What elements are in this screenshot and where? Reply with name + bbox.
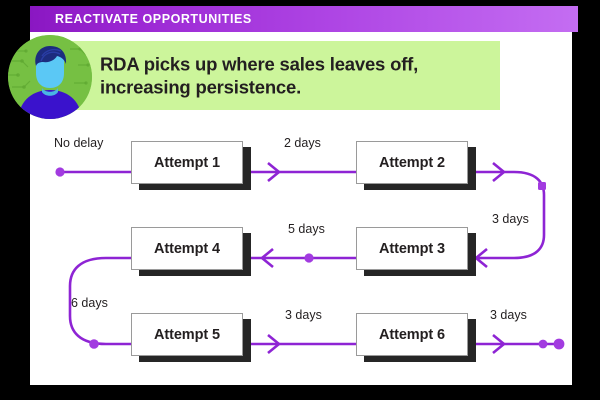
- flow-start-dot: [55, 167, 64, 176]
- node-attempt2-label: Attempt 2: [379, 155, 445, 171]
- node-attempt4-label: Attempt 4: [154, 241, 220, 257]
- page-title: REACTIVATE OPPORTUNITIES: [55, 12, 252, 26]
- edge-label-no-delay: No delay: [54, 136, 103, 150]
- infographic-root: REACTIVATE OPPORTUNITIES RDA picks up wh…: [0, 0, 600, 400]
- node-attempt1[interactable]: Attempt 1: [131, 141, 243, 184]
- edge-label-6-days: 6 days: [71, 296, 108, 310]
- edge-label-2-days: 2 days: [284, 136, 321, 150]
- edge-label-3-days-bottom: 3 days: [285, 308, 322, 322]
- node-attempt6-label: Attempt 6: [379, 327, 445, 343]
- edge-label-5-days: 5 days: [288, 222, 325, 236]
- node-attempt3[interactable]: Attempt 3: [356, 227, 468, 270]
- node-attempt6[interactable]: Attempt 6: [356, 313, 468, 356]
- content-canvas: RDA picks up where sales leaves off, inc…: [30, 32, 572, 385]
- node-attempt4[interactable]: Attempt 4: [131, 227, 243, 270]
- header-bar: REACTIVATE OPPORTUNITIES: [30, 6, 578, 32]
- edge-label-3-days-end: 3 days: [490, 308, 527, 322]
- flow-end-dot-outer: [554, 339, 565, 350]
- process-flow-diagram: .ln { stroke:#8E24D4; stroke-width:2.6; …: [30, 32, 572, 385]
- edge-midpoint-dot-6days: [89, 339, 99, 349]
- node-attempt1-label: Attempt 1: [154, 155, 220, 171]
- node-attempt2[interactable]: Attempt 2: [356, 141, 468, 184]
- edge-midpoint-dot-3days-right: [538, 182, 546, 190]
- node-attempt5-label: Attempt 5: [154, 327, 220, 343]
- node-attempt3-label: Attempt 3: [379, 241, 445, 257]
- edge-label-3-days-right: 3 days: [492, 212, 529, 226]
- flow-end-dot-inner: [539, 340, 548, 349]
- node-attempt5[interactable]: Attempt 5: [131, 313, 243, 356]
- edge-midpoint-dot-5days: [304, 253, 313, 262]
